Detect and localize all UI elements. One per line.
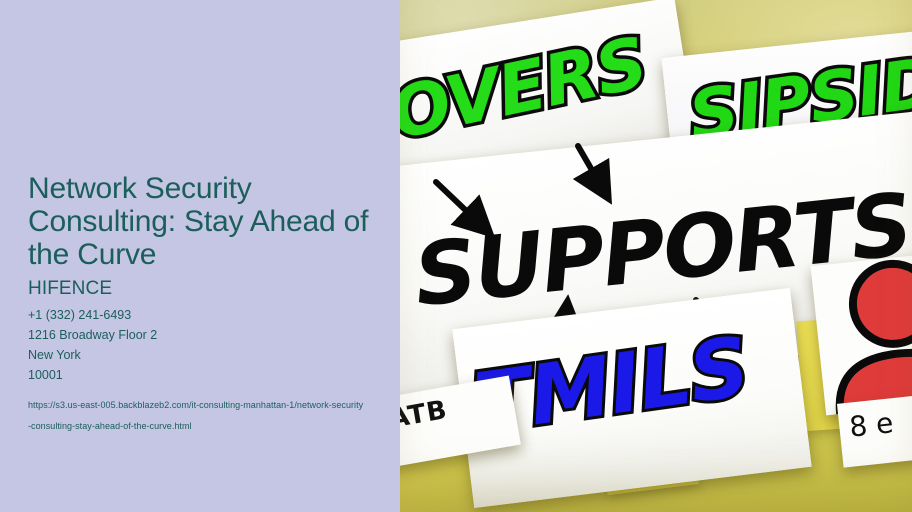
person-icon <box>811 251 912 416</box>
text-block: Network Security Consulting: Stay Ahead … <box>28 172 380 437</box>
sign-eatb-text: EATB <box>400 395 450 438</box>
sign-8e: 8 e <box>837 392 912 467</box>
page-title: Network Security Consulting: Stay Ahead … <box>28 172 380 271</box>
address-city: New York <box>28 345 380 365</box>
brand-name: HIFENCE <box>28 277 380 301</box>
info-panel: Network Security Consulting: Stay Ahead … <box>0 0 400 512</box>
photo-panel: TOVERS SIPSID SUPPORTS <box>400 0 912 512</box>
phone-number[interactable]: +1 (332) 241-6493 <box>28 305 380 325</box>
page-url[interactable]: https://s3.us-east-005.backblazeb2.com/i… <box>28 395 364 437</box>
signs-photo: TOVERS SIPSID SUPPORTS <box>400 0 912 512</box>
address-street: 1216 Broadway Floor 2 <box>28 325 380 345</box>
promo-banner: Network Security Consulting: Stay Ahead … <box>0 0 912 512</box>
sign-8e-text: 8 e <box>848 406 895 443</box>
address-postal-code: 10001 <box>28 365 380 385</box>
person-card <box>811 251 912 416</box>
